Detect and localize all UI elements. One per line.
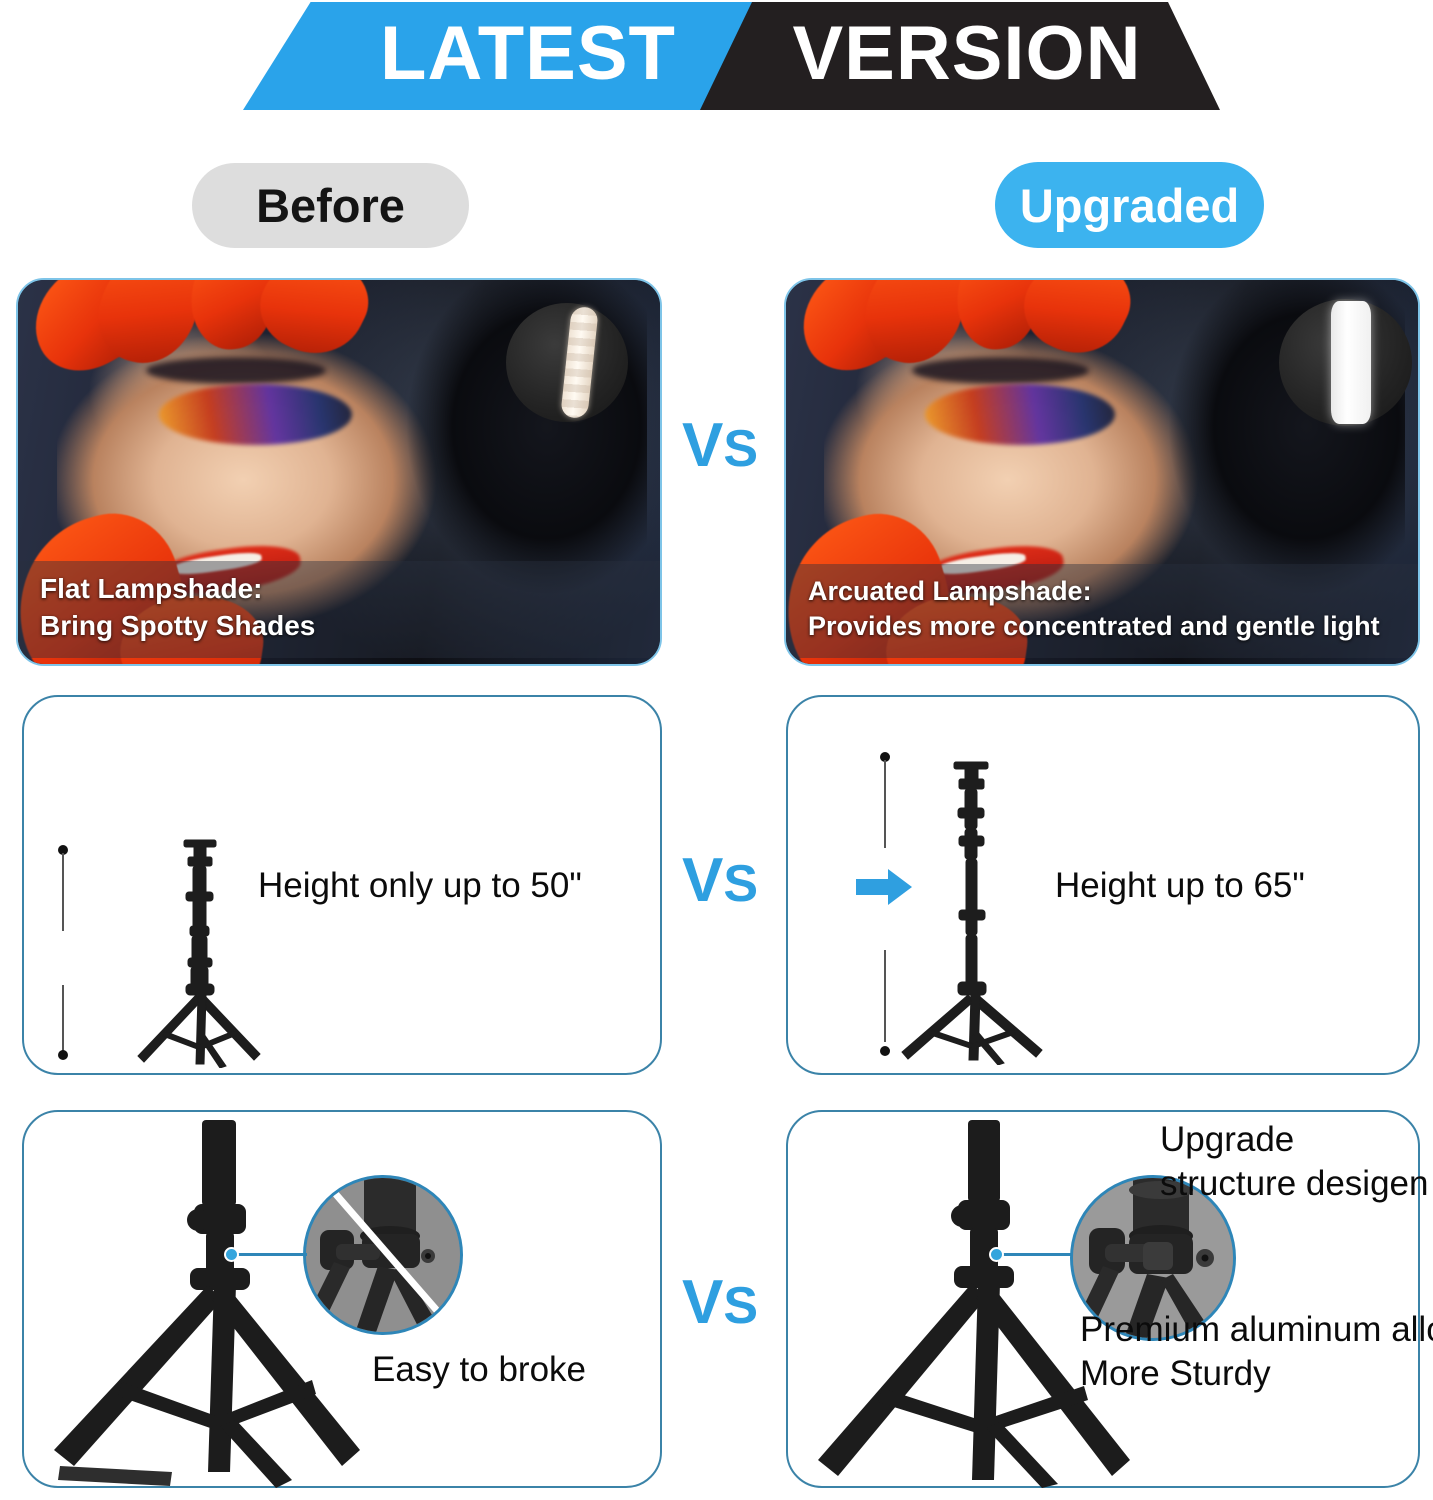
height-upgraded-text: Height up to 65"	[1055, 864, 1305, 908]
caption-before-lampshade: Flat Lampshade: Bring Spotty Shades	[18, 561, 660, 658]
structure-upgraded-title: Upgrade structure desigen	[1160, 1118, 1428, 1206]
detail-connector-line-before	[235, 1253, 307, 1256]
caption-line-1: Flat Lampshade:	[40, 571, 642, 607]
arcuated-lampshade-strip	[1331, 301, 1370, 424]
vs-s: S	[723, 855, 758, 913]
measure-bar-upper	[62, 853, 64, 931]
infographic-page: LATEST VERSION Before Upgraded Flat Lamp…	[0, 0, 1433, 1500]
vs-separator-row3: VS	[682, 1272, 758, 1334]
banner-version-shape: VERSION	[700, 2, 1220, 110]
tripod-upgraded	[880, 760, 1080, 1065]
structure-before-text: Easy to broke	[372, 1348, 586, 1392]
measure-dot-bottom	[58, 1050, 68, 1060]
detail-zoom-before	[303, 1175, 463, 1335]
structure-upgraded-text: Premium aluminum alloy More Sturdy	[1080, 1308, 1433, 1396]
structure-upgraded-title-line1: Upgrade	[1160, 1118, 1428, 1162]
vs-v: V	[682, 411, 723, 480]
model-eye-makeup	[159, 384, 352, 445]
label-before: Before	[192, 163, 469, 248]
vs-v: V	[682, 846, 723, 915]
vs-separator-row1: VS	[682, 415, 758, 477]
vs-s: S	[723, 420, 758, 478]
structure-upgraded-title-line2: structure desigen	[1160, 1162, 1428, 1206]
model-eye-makeup	[925, 384, 1115, 445]
banner-latest-text: LATEST	[330, 16, 676, 96]
caption-line-2: Bring Spotty Shades	[40, 608, 642, 644]
photo-panel-before-lampshade: Flat Lampshade: Bring Spotty Shades	[16, 278, 662, 666]
label-upgraded-text: Upgraded	[1020, 178, 1239, 233]
detail-connector-line-upgraded	[1000, 1253, 1072, 1256]
header-banner: LATEST VERSION	[0, 0, 1433, 120]
structure-upgraded-text-line1: Premium aluminum alloy	[1080, 1308, 1433, 1352]
caption-line-2: Provides more concentrated and gentle li…	[808, 609, 1400, 644]
caption-upgraded-lampshade: Arcuated Lampshade: Provides more concen…	[786, 564, 1418, 658]
model-eyebrow	[912, 357, 1089, 384]
structure-upgraded-text-line2: More Sturdy	[1080, 1352, 1433, 1396]
vs-s: S	[723, 1277, 758, 1335]
caption-line-1: Arcuated Lampshade:	[808, 574, 1400, 609]
banner-version-text: VERSION	[778, 16, 1141, 96]
vs-separator-row2: VS	[682, 850, 758, 912]
height-before-text: Height only up to 50"	[258, 864, 582, 908]
detail-connector-dot-upgraded	[989, 1247, 1004, 1262]
photo-panel-upgraded-lampshade: Arcuated Lampshade: Provides more concen…	[784, 278, 1420, 666]
measure-bar-lower	[62, 985, 64, 1055]
detail-connector-dot-before	[224, 1247, 239, 1262]
banner-latest-shape: LATEST	[243, 2, 763, 110]
model-eyebrow	[146, 357, 326, 384]
vs-v: V	[682, 1268, 723, 1337]
label-upgraded: Upgraded	[995, 162, 1264, 248]
label-before-text: Before	[256, 178, 405, 233]
